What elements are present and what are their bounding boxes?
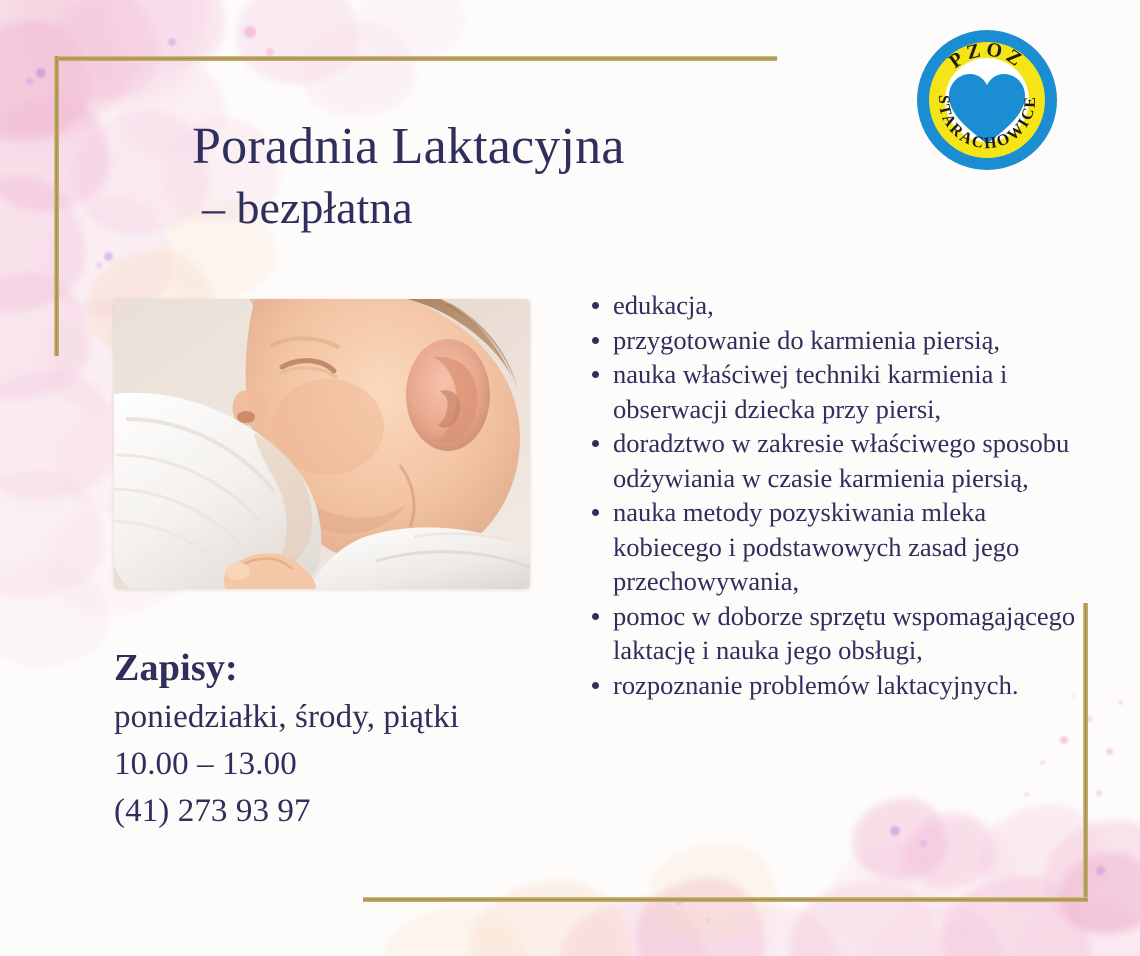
title-line-secondary: – bezpłatna [192, 178, 812, 238]
list-item: pomoc w doborze sprzętu wspomagającego l… [583, 599, 1083, 668]
frame-left-vertical [54, 56, 59, 356]
registration-days: poniedziałki, środy, piątki [114, 694, 544, 741]
registration-phone[interactable]: (41) 273 93 97 [114, 788, 544, 835]
registration-hours: 10.00 – 13.00 [114, 741, 544, 788]
frame-right-vertical [1083, 603, 1088, 902]
list-item: doradztwo w zakresie właściwego sposobu … [583, 426, 1083, 495]
frame-bottom-horizontal [363, 897, 1088, 902]
breastfeeding-photo [114, 299, 530, 589]
registration-heading: Zapisy: [114, 642, 544, 694]
registration-info: Zapisy: poniedziałki, środy, piątki 10.0… [114, 642, 544, 835]
pzoz-starachowice-logo: PZOZ STARACHOWICE [913, 26, 1061, 174]
frame-top-horizontal [54, 56, 777, 61]
list-item: nauka metody pozyskiwania mleka kobieceg… [583, 495, 1083, 599]
title-line-primary: Poradnia Laktacyjna [192, 116, 812, 178]
list-item: edukacja, [583, 288, 1083, 323]
page-title: Poradnia Laktacyjna – bezpłatna [192, 116, 812, 238]
list-item: przygotowanie do karmienia piersią, [583, 323, 1083, 358]
services-list: edukacja, przygotowanie do karmienia pie… [583, 288, 1083, 702]
list-item: rozpoznanie problemów laktacyjnych. [583, 668, 1083, 703]
poster-canvas: PZOZ STARACHOWICE Poradnia Laktacyjna – … [0, 0, 1140, 956]
list-item: nauka właściwej techniki karmienia i obs… [583, 357, 1083, 426]
